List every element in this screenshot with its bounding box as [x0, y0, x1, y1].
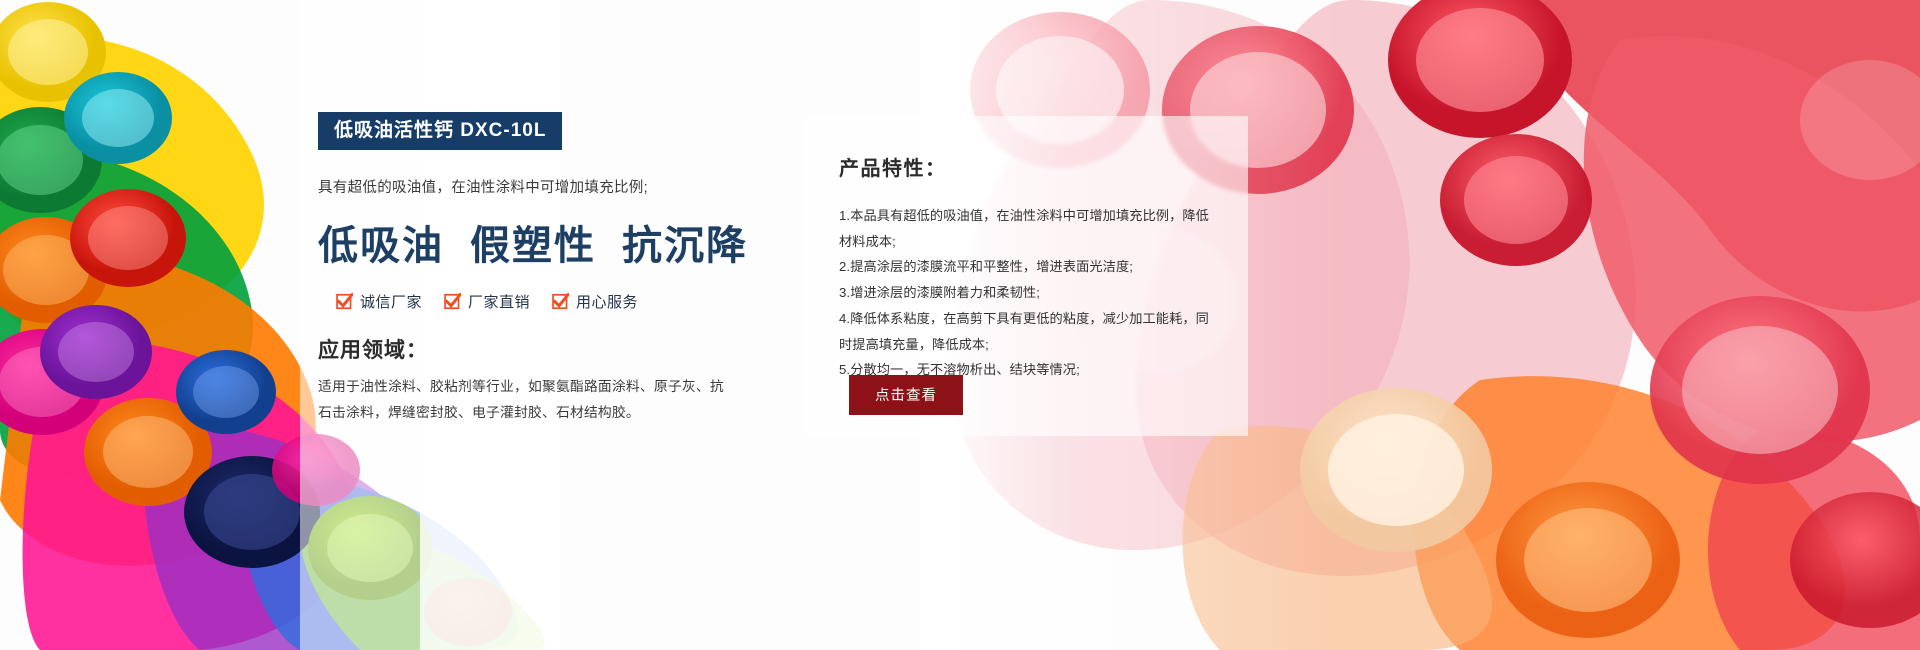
feature-item-1: 1.本品具有超低的吸油值，在油性涂料中可增加填充比例，降低材料成本; [839, 203, 1218, 254]
product-subline: 具有超低的吸油值，在油性涂料中可增加填充比例; [318, 176, 748, 197]
trust-badge-row: 诚信厂家 厂家直销 用心服务 [336, 291, 748, 312]
trust-badge-1[interactable]: 诚信厂家 [336, 291, 422, 312]
feature-item-2: 2.提高涂层的漆膜流平和平整性，增进表面光洁度; [839, 254, 1218, 280]
application-section-title: 应用领域： [318, 334, 748, 364]
trust-badge-2[interactable]: 厂家直销 [444, 291, 530, 312]
features-panel-title: 产品特性： [839, 152, 1218, 181]
features-panel-inner: 产品特性： 1.本品具有超低的吸油值，在油性涂料中可增加填充比例，降低材料成本;… [803, 116, 1248, 383]
features-list: 1.本品具有超低的吸油值，在油性涂料中可增加填充比例，降低材料成本; 2.提高涂… [839, 203, 1218, 383]
check-box-icon [552, 293, 569, 310]
trust-badge-3-label: 用心服务 [576, 291, 638, 312]
check-box-icon [444, 293, 461, 310]
headline-word-2: 假塑性 [470, 223, 596, 268]
application-description: 适用于油性涂料、胶粘剂等行业，如聚氨酯路面涂料、原子灰、抗石击涂料，焊缝密封胶、… [318, 374, 730, 425]
product-title-badge: 低吸油活性钙 DXC-10L [318, 112, 562, 150]
feature-item-3: 3.增进涂层的漆膜附着力和柔韧性; [839, 280, 1218, 306]
check-box-icon [336, 293, 353, 310]
banner-stage: 低吸油活性钙 DXC-10L 具有超低的吸油值，在油性涂料中可增加填充比例; 低… [0, 0, 1920, 650]
view-details-button[interactable]: 点击查看 [849, 375, 963, 415]
product-info-column: 低吸油活性钙 DXC-10L 具有超低的吸油值，在油性涂料中可增加填充比例; 低… [318, 112, 748, 425]
trust-badge-1-label: 诚信厂家 [360, 291, 422, 312]
product-headline: 低吸油假塑性抗沉降 [318, 213, 748, 271]
feature-item-4: 4.降低体系粘度，在高剪下具有更低的粘度，减少加工能耗，同时提高填充量，降低成本… [839, 306, 1218, 357]
trust-badge-2-label: 厂家直销 [468, 291, 530, 312]
headline-word-1: 低吸油 [318, 223, 444, 268]
trust-badge-3[interactable]: 用心服务 [552, 291, 638, 312]
headline-word-3: 抗沉降 [622, 223, 748, 268]
